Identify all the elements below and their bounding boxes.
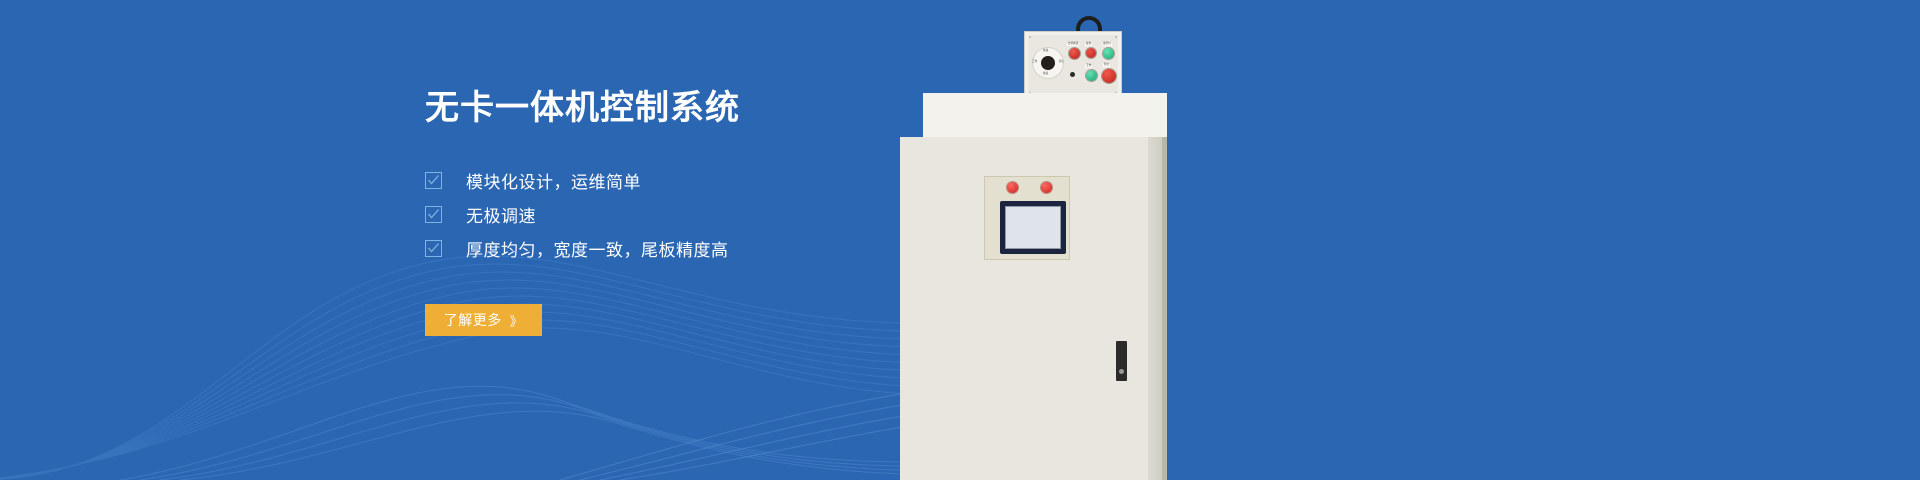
button-label: 复位 <box>1085 43 1092 46</box>
button-label: 工作 <box>1085 65 1092 68</box>
list-item-label: 厚度均匀，宽度一致，尾板精度高 <box>466 236 729 261</box>
stop-button[interactable] <box>1102 69 1116 83</box>
learn-more-label: 了解更多 <box>444 310 502 330</box>
list-item: 厚度均匀，宽度一致，尾板精度高 <box>425 232 985 265</box>
checkbox-checked-icon <box>425 206 442 223</box>
knob-label-right: 停止 <box>1059 61 1064 64</box>
checkbox-checked-icon <box>425 240 442 257</box>
knob-label-bottom: 快退 <box>1043 73 1048 76</box>
feature-list: 模块化设计，运维简单 无极调速 厚度均匀，宽度一致，尾板精度高 <box>425 164 985 265</box>
learn-more-button[interactable]: 了解更多 》 <box>425 304 542 336</box>
list-item: 模块化设计，运维简单 <box>425 164 985 197</box>
hero-copy: 无卡一体机控制系统 模块化设计，运维简单 无极调速 厚度均匀，宽度一致，尾板精度… <box>425 86 985 336</box>
screw-icon <box>1029 36 1031 38</box>
indicator-lamp-right[interactable] <box>1041 182 1052 193</box>
knob-label-top: 快进 <box>1043 50 1048 53</box>
button-label: 运行灯 <box>1102 43 1112 46</box>
hmi-touchscreen[interactable] <box>1000 201 1066 254</box>
start-button[interactable] <box>1086 48 1096 58</box>
knob-pointer <box>1041 56 1055 70</box>
button-label: 停止 <box>1103 64 1110 67</box>
speed-selector-knob[interactable]: 快进 工作 停止 快退 <box>1033 48 1063 78</box>
hmi-screen-surface <box>1005 206 1061 249</box>
chevron-right-icon: 》 <box>510 311 524 330</box>
list-item-label: 模块化设计，运维简单 <box>466 168 641 193</box>
cabinet-right-edge <box>1162 137 1167 480</box>
page-title: 无卡一体机控制系统 <box>425 86 985 130</box>
list-item-label: 无极调速 <box>466 202 536 227</box>
hero-banner: 无卡一体机控制系统 模块化设计，运维简单 无极调速 厚度均匀，宽度一致，尾板精度… <box>0 0 1920 480</box>
screw-icon <box>1115 36 1117 38</box>
upper-control-panel: 快进 工作 停止 快退 急停按钮 复位 运行灯 工作 停止 <box>1024 31 1122 99</box>
emergency-stop-button[interactable] <box>1069 48 1080 59</box>
work-button[interactable] <box>1086 70 1097 81</box>
knob-label-left: 工作 <box>1032 61 1037 64</box>
run-indicator-button[interactable] <box>1103 48 1114 59</box>
button-label: 急停按钮 <box>1067 43 1079 46</box>
checkbox-checked-icon <box>425 172 442 189</box>
pilot-lamp[interactable] <box>1070 72 1075 77</box>
card-slot <box>1116 341 1127 381</box>
list-item: 无极调速 <box>425 198 985 231</box>
indicator-lamp-left[interactable] <box>1007 182 1018 193</box>
